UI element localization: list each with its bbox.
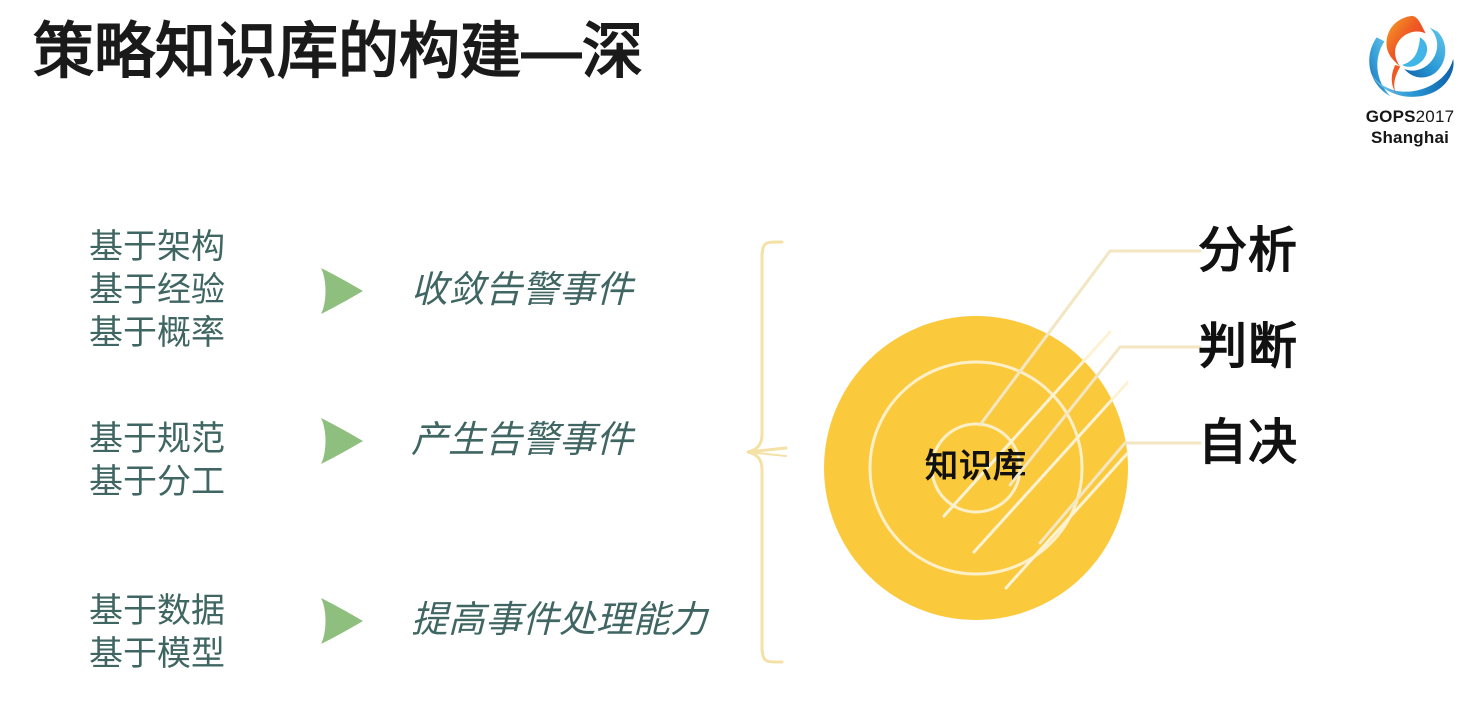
logo-brand-line: GOPS2017: [1350, 106, 1470, 127]
condition-item: 基于数据: [89, 590, 225, 633]
capability-label-self-decision: 自决: [1198, 414, 1298, 472]
condition-item: 基于分工: [89, 461, 225, 504]
gops-emblem-icon: [1361, 8, 1459, 106]
condition-item: 基于规范: [89, 418, 225, 461]
outcome-label-1: 收敛告警事件: [411, 267, 633, 313]
play-triangle-icon: [307, 258, 373, 324]
condition-group-2: 基于规范 基于分工: [89, 418, 225, 504]
capability-label-judgement: 判断: [1198, 318, 1298, 376]
condition-item: 基于概率: [89, 312, 225, 355]
logo-year: 2017: [1416, 107, 1455, 126]
condition-group-1: 基于架构 基于经验 基于概率: [89, 226, 225, 355]
page-title: 策略知识库的构建—深: [33, 12, 643, 90]
gops-logo: GOPS2017 Shanghai: [1350, 8, 1470, 163]
capability-label-analysis: 分析: [1198, 222, 1298, 280]
condition-item: 基于模型: [89, 633, 225, 676]
outcome-label-2: 产生告警事件: [411, 417, 633, 463]
outcome-label-3: 提高事件处理能力: [411, 597, 707, 643]
logo-city: Shanghai: [1350, 127, 1470, 148]
condition-item: 基于架构: [89, 226, 225, 269]
logo-brand: GOPS: [1366, 107, 1416, 126]
play-triangle-icon: [307, 588, 373, 654]
slide-canvas: 策略知识库的构建—深: [0, 0, 1484, 710]
condition-item: 基于经验: [89, 269, 225, 312]
curly-brace-icon: [742, 238, 802, 666]
play-triangle-icon: [307, 408, 373, 474]
condition-group-3: 基于数据 基于模型: [89, 590, 225, 676]
